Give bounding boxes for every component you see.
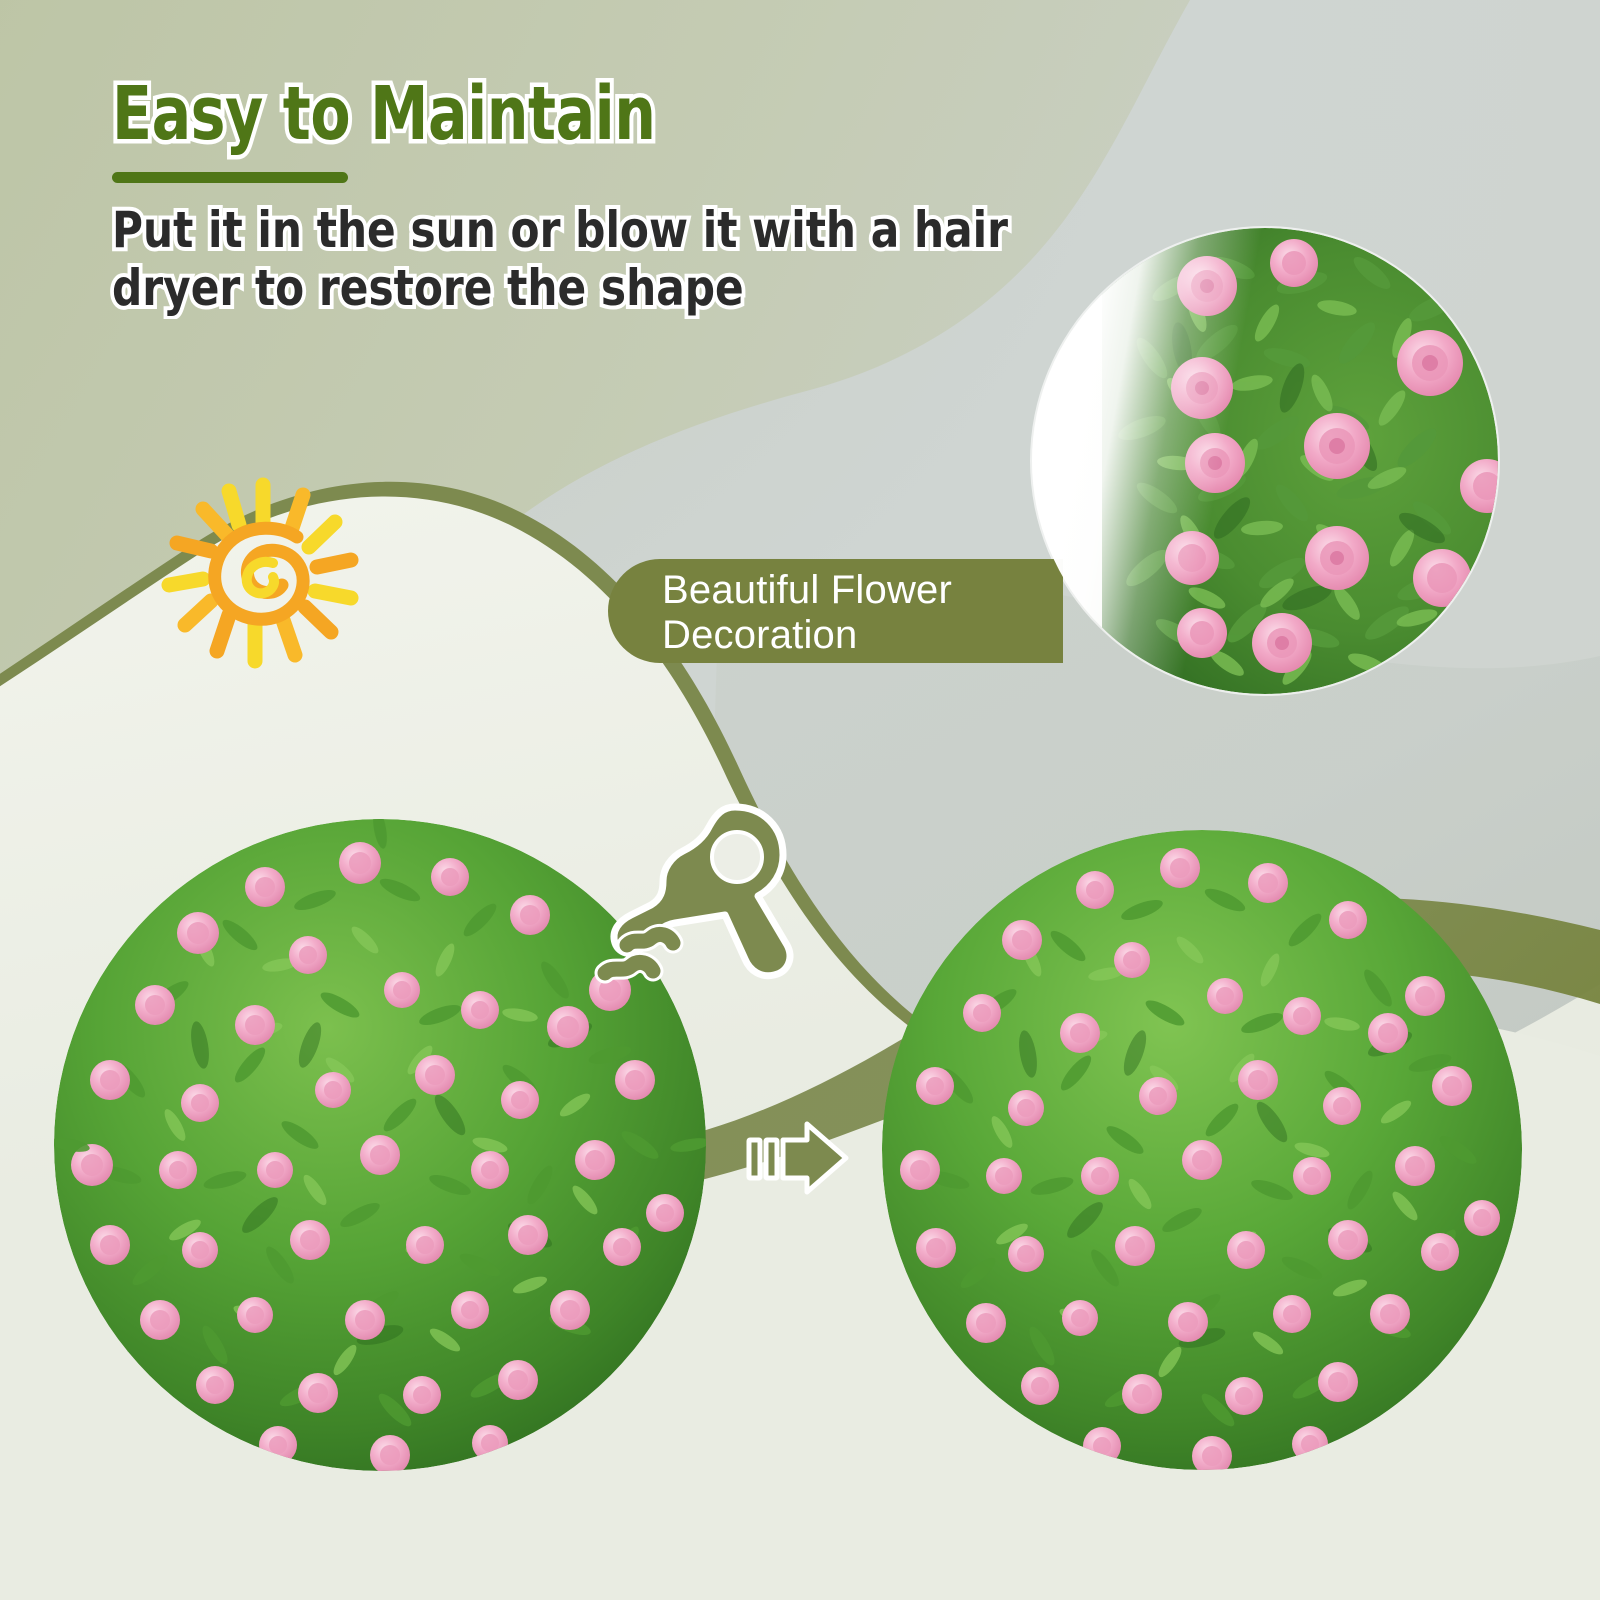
beautiful-flower-banner: Beautiful Flower Decoration bbox=[608, 559, 1063, 663]
topiary-ball-after bbox=[880, 828, 1525, 1473]
right-arrow-icon bbox=[745, 1118, 850, 1198]
heading-block: Easy to Maintain Put it in the sun or bl… bbox=[112, 78, 1112, 318]
hair-dryer-icon bbox=[575, 795, 810, 995]
topiary-ball-after-photo bbox=[880, 828, 1525, 1473]
page-subtitle: Put it in the sun or blow it with a hair… bbox=[112, 201, 1052, 318]
page-title: Easy to Maintain bbox=[112, 78, 992, 151]
banner-line-1: Beautiful Flower bbox=[662, 568, 1063, 613]
flower-closeup-photo bbox=[1032, 228, 1498, 694]
banner-line-2: Decoration bbox=[662, 613, 1063, 658]
title-underline-bar bbox=[112, 172, 348, 183]
sun-doodle-icon bbox=[155, 465, 370, 675]
infographic-canvas: Easy to Maintain Put it in the sun or bl… bbox=[0, 0, 1600, 1600]
flower-closeup-inset bbox=[1032, 228, 1498, 694]
